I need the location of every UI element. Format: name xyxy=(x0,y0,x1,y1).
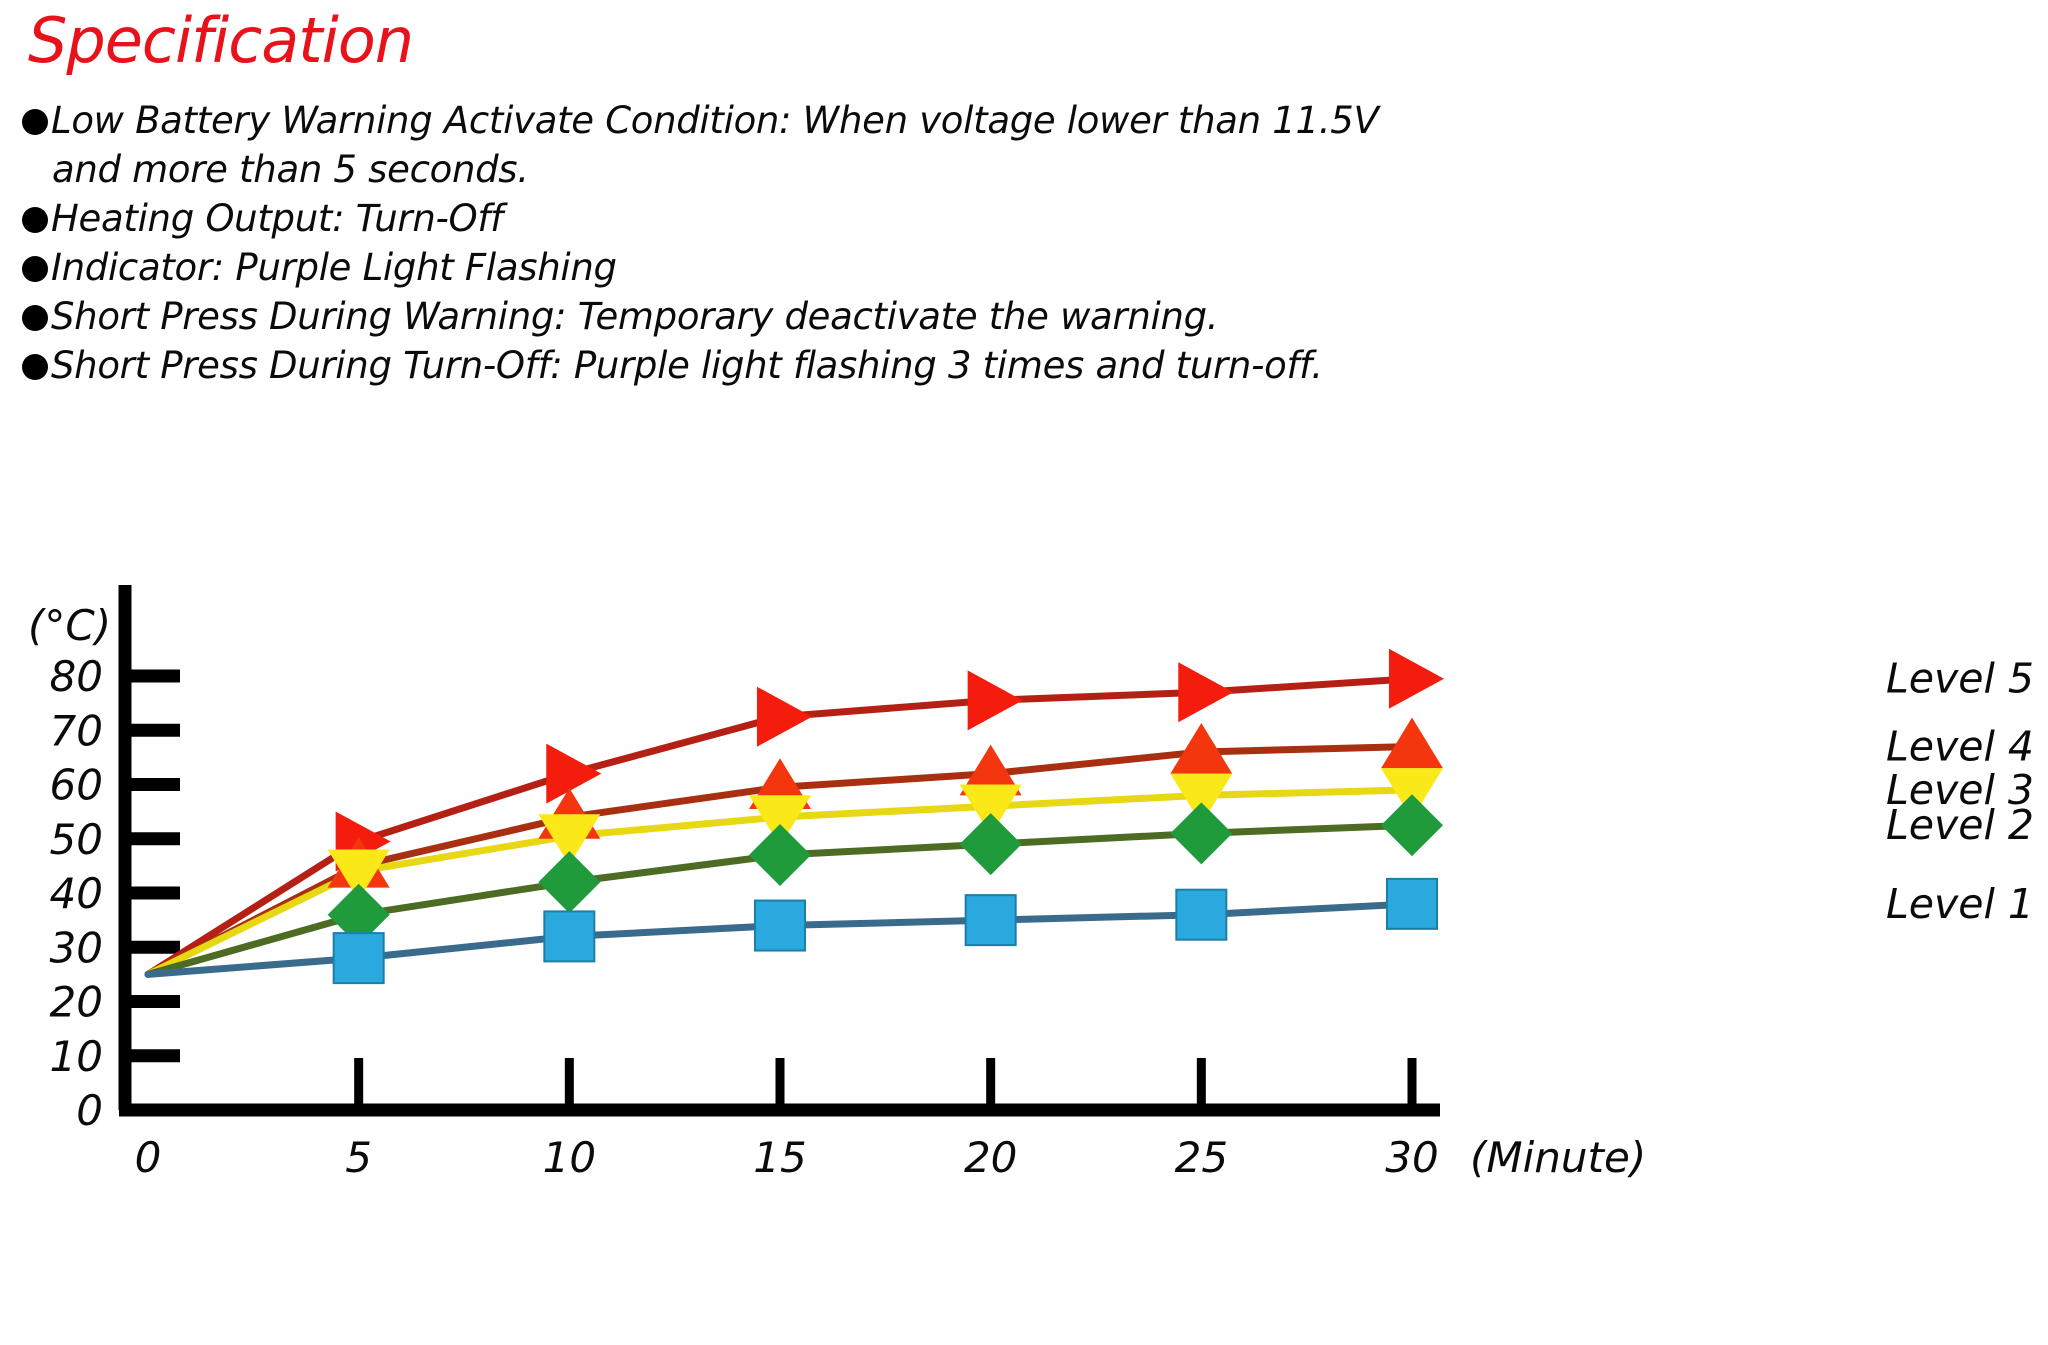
bullet-dot-icon xyxy=(22,207,48,233)
data-point-level-3-15min xyxy=(749,795,811,846)
x-axis-tick-label: 30 xyxy=(1385,1133,1438,1182)
list-item: Indicator: Purple Light Flashing xyxy=(22,243,1722,292)
data-point-level-1-20min xyxy=(966,895,1016,945)
series-lines xyxy=(148,679,1412,975)
data-point-level-1-30min xyxy=(1387,879,1437,929)
data-point-level-5-15min xyxy=(757,687,812,747)
data-point-level-3-30min xyxy=(1381,768,1443,819)
data-point-level-2-25min xyxy=(1170,802,1232,864)
list-item-continuation: and more than 5 seconds. xyxy=(22,145,1722,194)
chart-axes xyxy=(119,585,1440,1110)
list-item: Short Press During Warning: Temporary de… xyxy=(22,292,1722,341)
series-line-level-3 xyxy=(148,790,1412,974)
spec-bullet-list: Low Battery Warning Activate Condition: … xyxy=(22,96,1722,390)
y-axis-tick-label: 60 xyxy=(50,761,103,810)
legend-label-level-3: Level 3 xyxy=(1886,766,2034,814)
chart-legend: Level 5Level 4Level 3Level 2Level 1 xyxy=(1886,655,2034,928)
list-item: Heating Output: Turn-Off xyxy=(22,194,1722,243)
data-point-level-4-5min xyxy=(328,837,390,888)
x-axis-tick-label: 10 xyxy=(543,1133,596,1182)
data-point-level-3-5min xyxy=(328,850,390,901)
series-line-level-4 xyxy=(148,747,1412,975)
data-point-level-3-20min xyxy=(960,784,1022,835)
data-point-level-5-20min xyxy=(968,670,1023,730)
data-point-level-1-10min xyxy=(544,911,594,961)
y-axis-unit-label: (°C) xyxy=(28,601,111,650)
series-line-level-5 xyxy=(148,679,1412,975)
x-axis-tick-label: 15 xyxy=(753,1133,806,1182)
y-axis-tick-label: 50 xyxy=(50,815,103,864)
legend-label-level-1: Level 1 xyxy=(1886,880,2034,928)
list-item-label: Short Press During Warning: Temporary de… xyxy=(51,292,1218,341)
series-markers xyxy=(328,649,1444,983)
legend-label-level-2: Level 2 xyxy=(1886,801,2034,849)
y-axis-tick-label: 30 xyxy=(50,923,103,972)
y-axis-tick-label: 40 xyxy=(50,869,103,918)
data-point-level-2-15min xyxy=(749,824,811,886)
data-point-level-2-10min xyxy=(538,851,600,913)
specification-page: Specification Low Battery Warning Activa… xyxy=(0,0,2048,1345)
y-axis-tick-label: 10 xyxy=(50,1032,103,1081)
data-point-level-5-10min xyxy=(546,744,601,804)
y-axis-tick-labels: 10203040506070800 xyxy=(50,652,103,1135)
list-item-label: Short Press During Turn-Off: Purple ligh… xyxy=(51,341,1323,390)
data-point-level-4-20min xyxy=(960,745,1022,796)
bullet-dot-icon xyxy=(22,354,48,380)
data-point-level-2-30min xyxy=(1381,794,1443,856)
data-point-level-5-25min xyxy=(1178,662,1233,722)
legend-label-level-5: Level 5 xyxy=(1886,655,2034,703)
x-axis-tick-label: 25 xyxy=(1175,1133,1228,1182)
data-point-level-1-15min xyxy=(755,901,805,951)
data-point-level-4-25min xyxy=(1170,723,1232,774)
list-item-label: Heating Output: Turn-Off xyxy=(51,194,503,243)
x-axis-unit-label: (Minute) xyxy=(1470,1133,1646,1182)
list-item: Short Press During Turn-Off: Purple ligh… xyxy=(22,341,1722,390)
y-axis-tick-label: 70 xyxy=(50,706,103,755)
data-point-level-2-20min xyxy=(960,813,1022,875)
x-axis-tick-label: 5 xyxy=(345,1133,372,1182)
y-axis-ticks xyxy=(125,676,180,1110)
data-point-level-1-5min xyxy=(334,933,384,983)
x-axis-tick-labels: 051015202530 xyxy=(135,1133,1439,1182)
x-axis-ticks xyxy=(359,1058,1412,1104)
list-item-label: Low Battery Warning Activate Condition: … xyxy=(51,96,1378,145)
x-axis-tick-label: 20 xyxy=(964,1133,1017,1182)
list-item: Low Battery Warning Activate Condition: … xyxy=(22,96,1722,145)
data-point-level-4-10min xyxy=(538,788,600,839)
series-line-level-1 xyxy=(148,904,1412,975)
bullet-dot-icon xyxy=(22,256,48,282)
page-title: Specification xyxy=(28,4,413,77)
data-point-level-3-25min xyxy=(1170,774,1232,825)
data-point-level-2-5min xyxy=(328,884,390,946)
bullet-dot-icon xyxy=(22,109,48,135)
data-point-level-5-5min xyxy=(336,811,391,871)
data-point-level-5-30min xyxy=(1389,649,1444,709)
y-axis-tick-label: 20 xyxy=(50,978,103,1027)
list-item-label: Indicator: Purple Light Flashing xyxy=(51,243,617,292)
axis-unit-labels: (°C)(Minute) xyxy=(28,601,1646,1182)
data-point-level-4-15min xyxy=(749,758,811,809)
legend-label-level-4: Level 4 xyxy=(1886,723,2034,771)
series-line-level-2 xyxy=(148,825,1412,974)
y-axis-tick-label: 80 xyxy=(50,652,103,701)
list-item-label: and more than 5 seconds. xyxy=(52,145,529,194)
data-point-level-4-30min xyxy=(1381,718,1443,769)
data-point-level-1-25min xyxy=(1176,890,1226,940)
bullet-dot-icon xyxy=(22,305,48,331)
y-axis-tick-label: 0 xyxy=(76,1086,103,1135)
data-point-level-3-10min xyxy=(538,814,600,865)
x-axis-tick-label: 0 xyxy=(135,1133,162,1182)
